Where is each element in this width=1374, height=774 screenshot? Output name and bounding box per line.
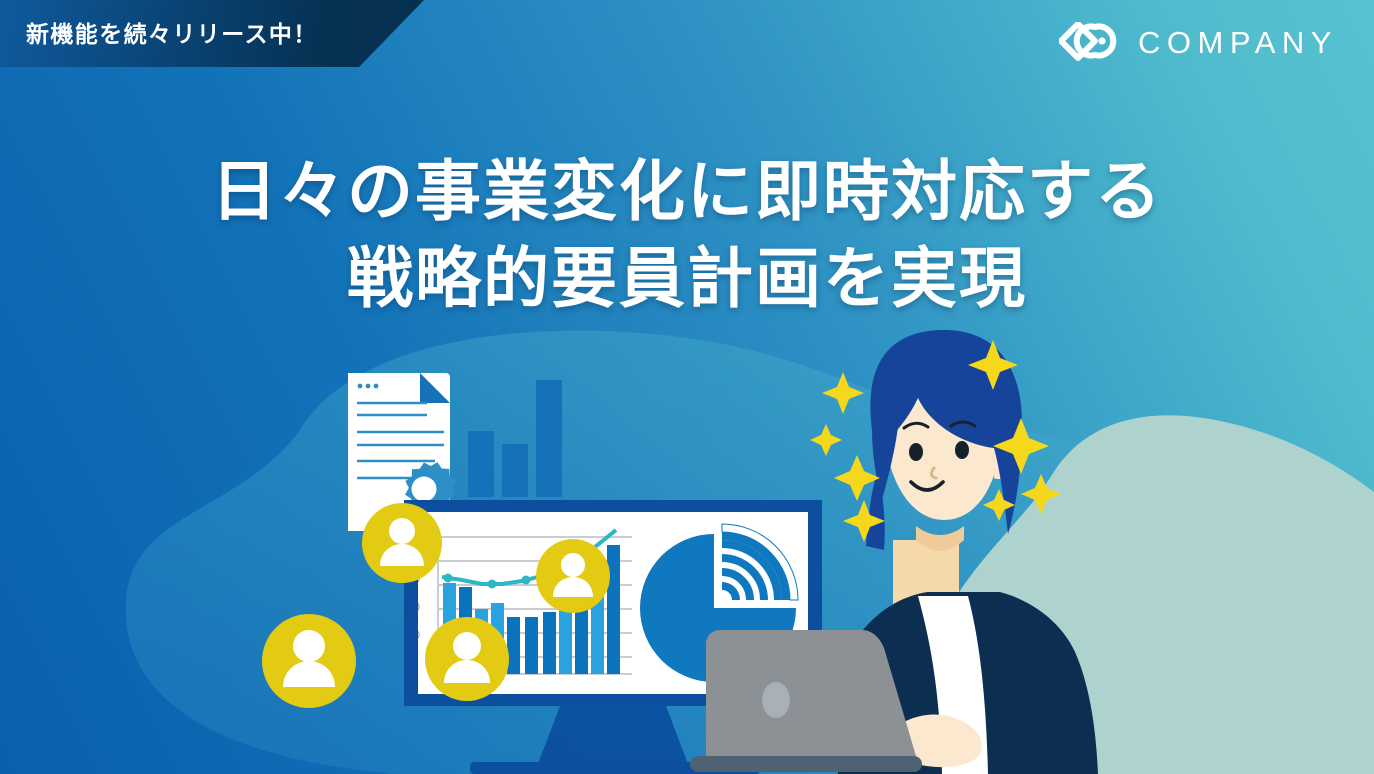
company-logo-text: COMPANY — [1138, 27, 1338, 58]
user-avatar-1 — [362, 503, 442, 583]
new-feature-badge: 新機能を続々リリース中！ — [0, 0, 424, 67]
user-avatar-3 — [425, 617, 509, 701]
hero-illustration: 40 30 20 — [0, 0, 1374, 774]
user-avatar-2 — [536, 539, 610, 613]
infinity-diamond-logo-icon — [1059, 22, 1121, 62]
user-avatar-4 — [262, 614, 356, 708]
new-feature-badge-label: 新機能を続々リリース中！ — [0, 15, 318, 49]
bar-chart-icon — [468, 380, 562, 497]
company-logo[interactable]: COMPANY — [1059, 22, 1338, 62]
hero-banner: 40 30 20 — [0, 0, 1374, 774]
